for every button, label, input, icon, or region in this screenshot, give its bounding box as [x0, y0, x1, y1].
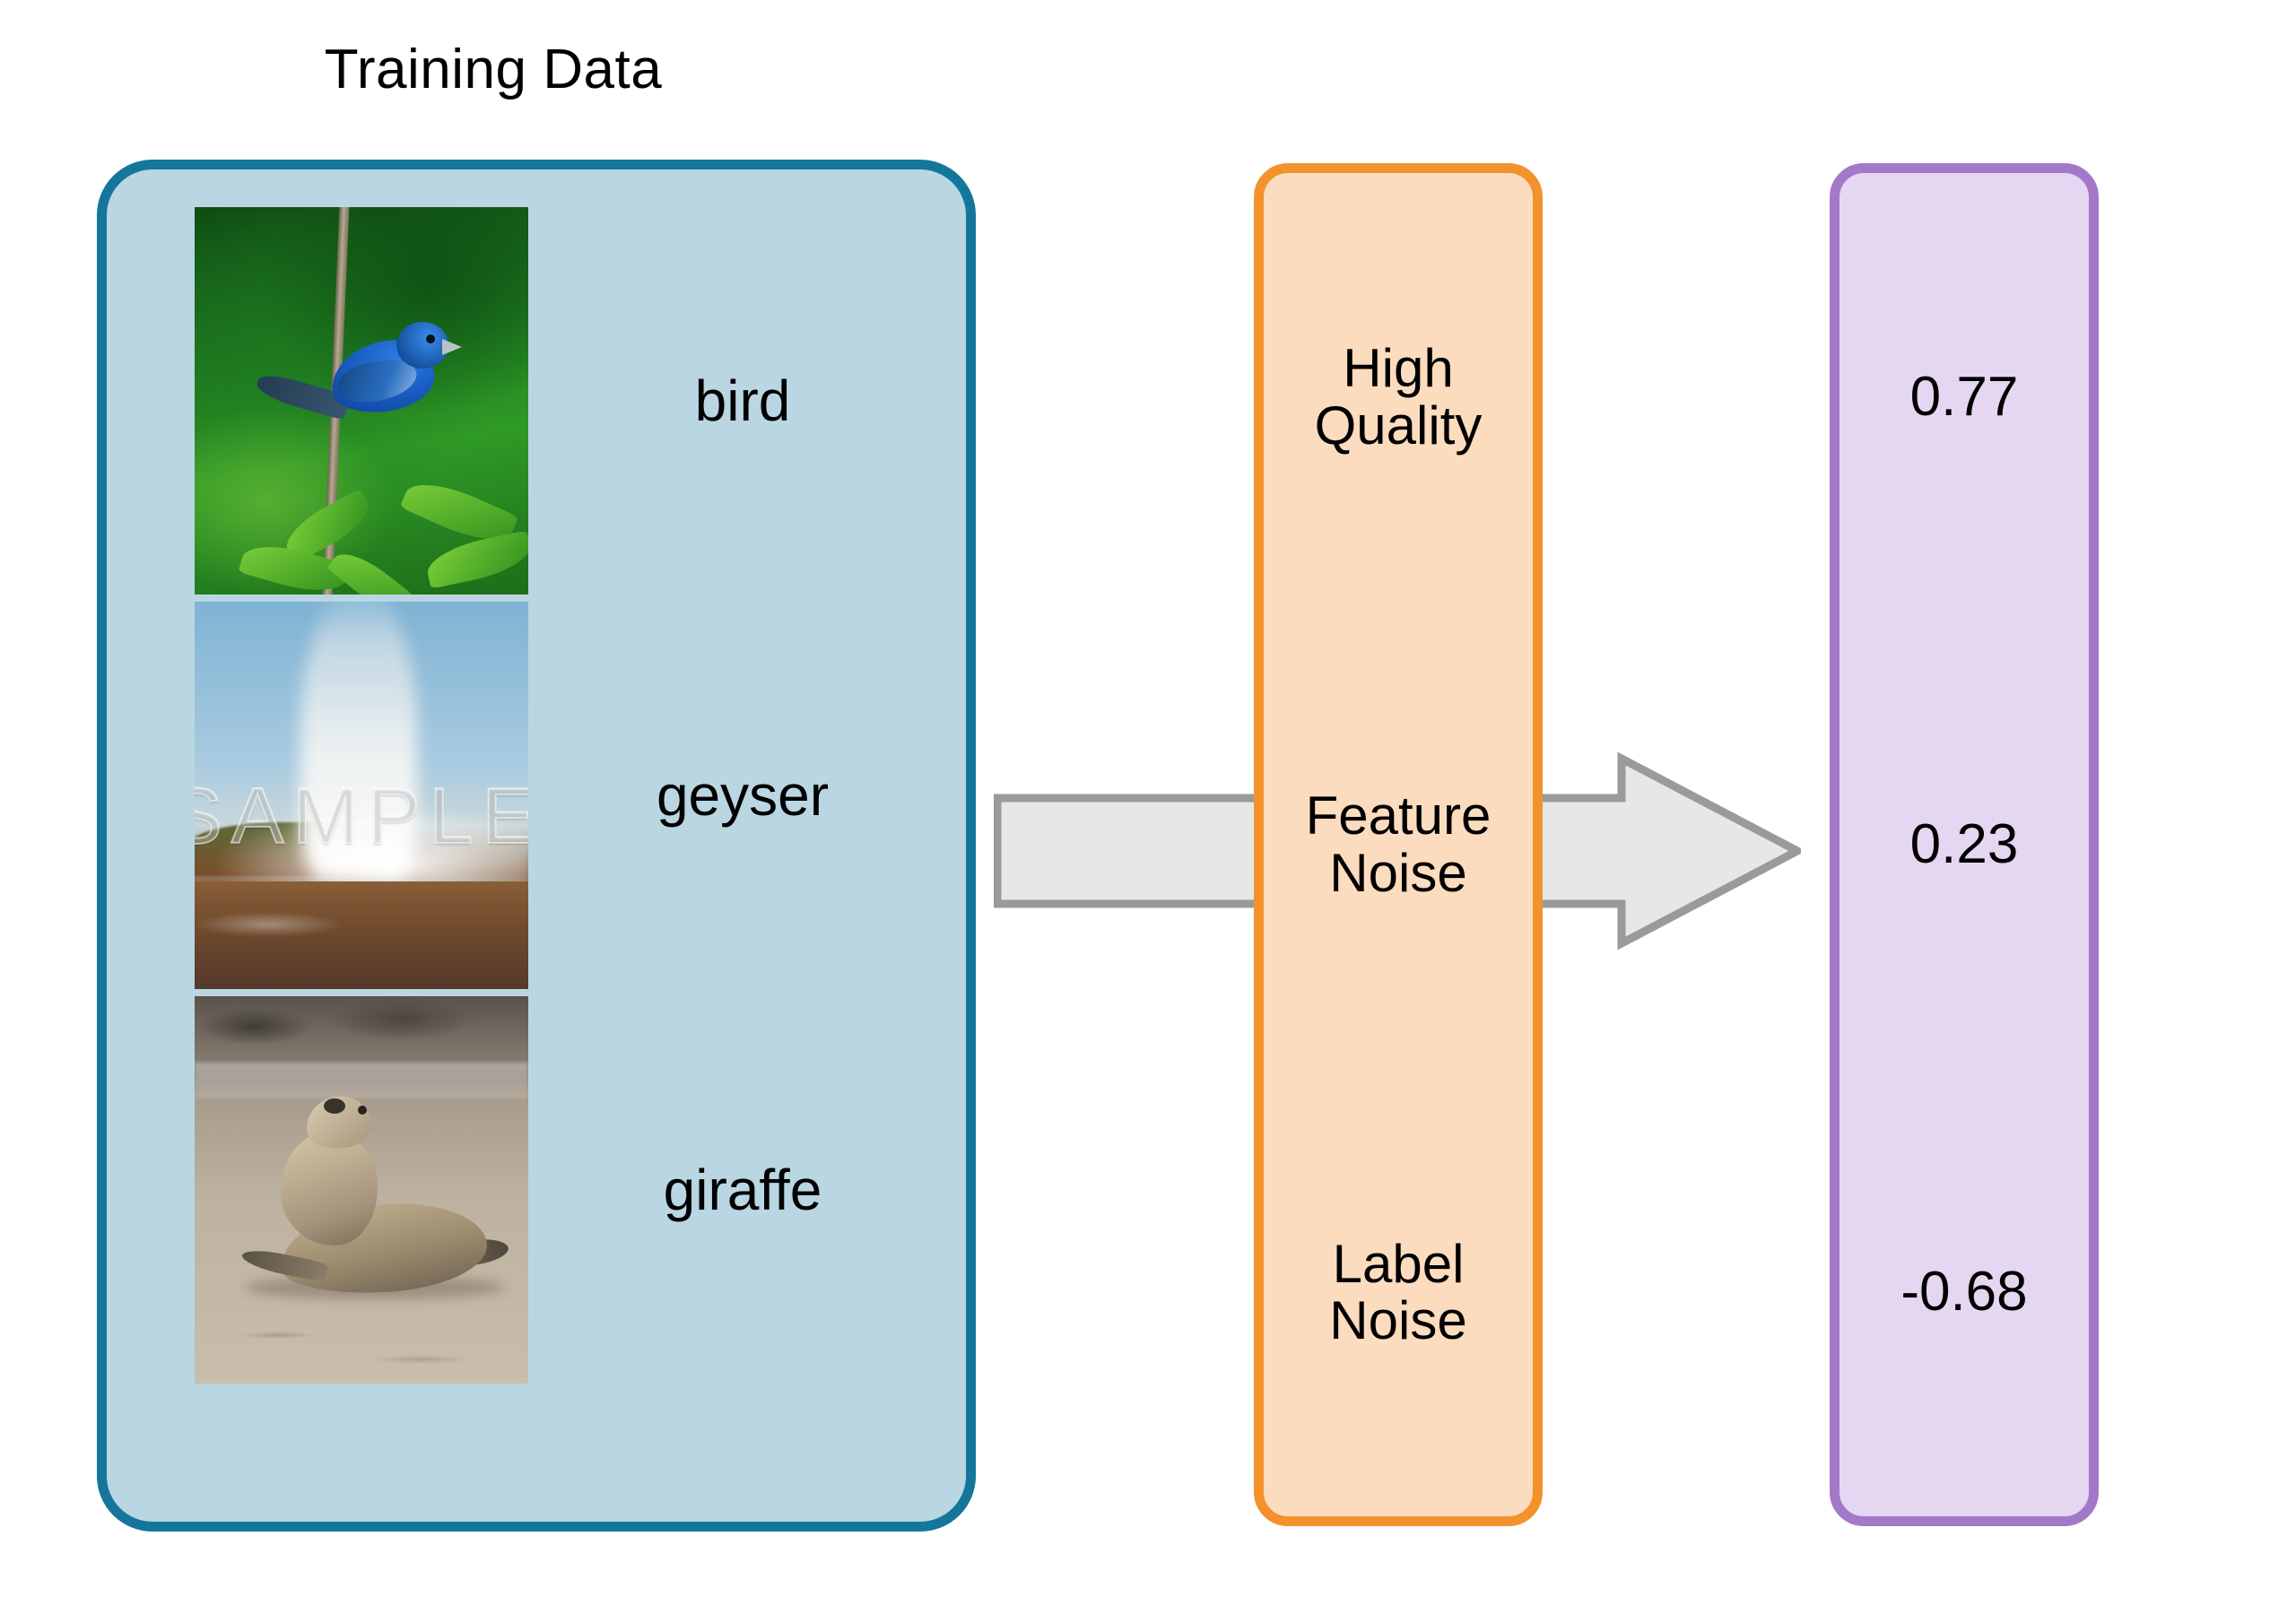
- sea-lion-chest-shape: [281, 1133, 378, 1245]
- ground-shape: [195, 881, 528, 989]
- importance-score-value: -0.68: [1839, 1069, 2089, 1516]
- sea-lion-nose-shape: [324, 1098, 345, 1114]
- sea-lion-on-beach-photo: [195, 996, 528, 1384]
- erupting-geyser-photo: SAMPLE: [195, 602, 528, 989]
- leaf-shape: [326, 542, 414, 595]
- training-data-panel: bird SAMPLE geyser giraffe: [97, 160, 976, 1532]
- bird-eye-shape: [426, 334, 435, 343]
- leaf-shape: [423, 530, 528, 589]
- sample-label-bird: bird: [528, 368, 966, 434]
- importance-score-value: 0.23: [1839, 621, 2089, 1068]
- noise-label-line1: Feature: [1306, 787, 1492, 845]
- bird-on-branch-photo: [195, 207, 528, 595]
- bird-head-shape: [396, 322, 448, 369]
- noise-label-line2: Noise: [1329, 1292, 1466, 1350]
- noise-cell-feature-noise: Feature Noise: [1264, 621, 1533, 1068]
- sample-label-geyser: geyser: [528, 762, 966, 829]
- importance-score-value: 0.77: [1839, 173, 2089, 621]
- training-sample-row: giraffe: [107, 993, 966, 1387]
- page-title: Training Data: [99, 38, 888, 101]
- noise-label-line2: Noise: [1306, 845, 1492, 902]
- noise-label-line1: Label: [1329, 1236, 1466, 1293]
- water-shape: [195, 1063, 528, 1098]
- importance-scores-panel: 0.77 0.23 -0.68: [1830, 163, 2099, 1526]
- sand-texture: [195, 1303, 528, 1384]
- noise-label-line2: Quality: [1315, 397, 1483, 455]
- noise-label-line1: High: [1315, 340, 1483, 397]
- training-sample-row: bird: [107, 204, 966, 598]
- rocks-shape: [195, 996, 528, 1072]
- sample-label-giraffe: giraffe: [528, 1157, 966, 1223]
- noise-cell-label-noise: Label Noise: [1264, 1069, 1533, 1516]
- sea-lion-eye-shape: [358, 1106, 367, 1115]
- noise-cell-high-quality: High Quality: [1264, 173, 1533, 621]
- training-sample-row: SAMPLE geyser: [107, 598, 966, 993]
- bird-beak-shape: [442, 339, 462, 355]
- noise-types-panel: High Quality Feature Noise Label Noise: [1254, 163, 1543, 1526]
